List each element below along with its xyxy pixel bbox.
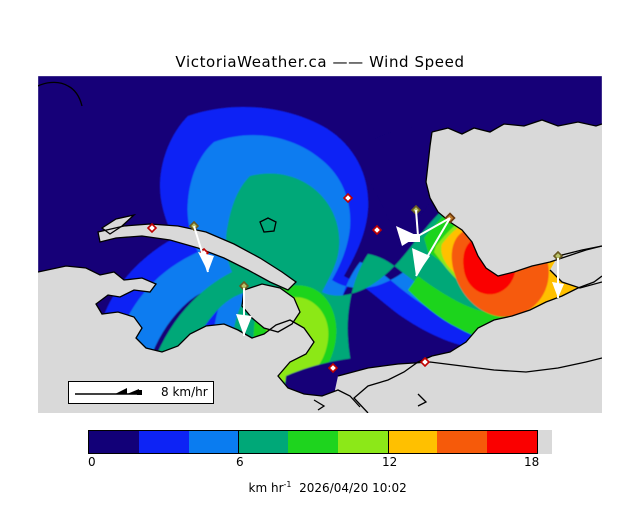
colorbar-segment-4 [288, 431, 338, 453]
map-panel[interactable]: 8 km/hr [38, 76, 602, 413]
colorbar[interactable] [88, 430, 538, 454]
page-title: VictoriaWeather.ca —— Wind Speed [0, 53, 640, 71]
wind-barb-legend-label: 8 km/hr [161, 385, 208, 399]
wind-speed-figure: VictoriaWeather.ca —— Wind Speed [0, 0, 640, 480]
wind-speed-contour-map[interactable] [38, 76, 602, 413]
colorbar-segment-8 [487, 431, 537, 453]
wind-speed-contour-field [38, 76, 602, 413]
colorbar-caption-spacer [292, 481, 300, 495]
wind-barb-legend-icon [75, 386, 161, 400]
colorbar-segment-7 [437, 431, 487, 453]
colorbar-units-exponent: -1 [284, 480, 292, 489]
colorbar-tick-line-12 [388, 431, 389, 453]
colorbar-timestamp: 2026/04/20 10:02 [299, 481, 407, 495]
colorbar-segment-5 [338, 431, 388, 453]
colorbar-segment-2 [189, 431, 239, 453]
colorbar-container [88, 430, 552, 454]
colorbar-segment-3 [238, 431, 288, 453]
colorbar-caption: km hr-1 2026/04/20 10:02 [0, 466, 640, 509]
wind-barb-legend: 8 km/hr [68, 381, 214, 404]
colorbar-units: km hr [249, 481, 284, 495]
colorbar-segment-6 [388, 431, 438, 453]
colorbar-segment-0 [89, 431, 139, 453]
colorbar-tick-line-6 [238, 431, 239, 453]
colorbar-segment-1 [139, 431, 189, 453]
